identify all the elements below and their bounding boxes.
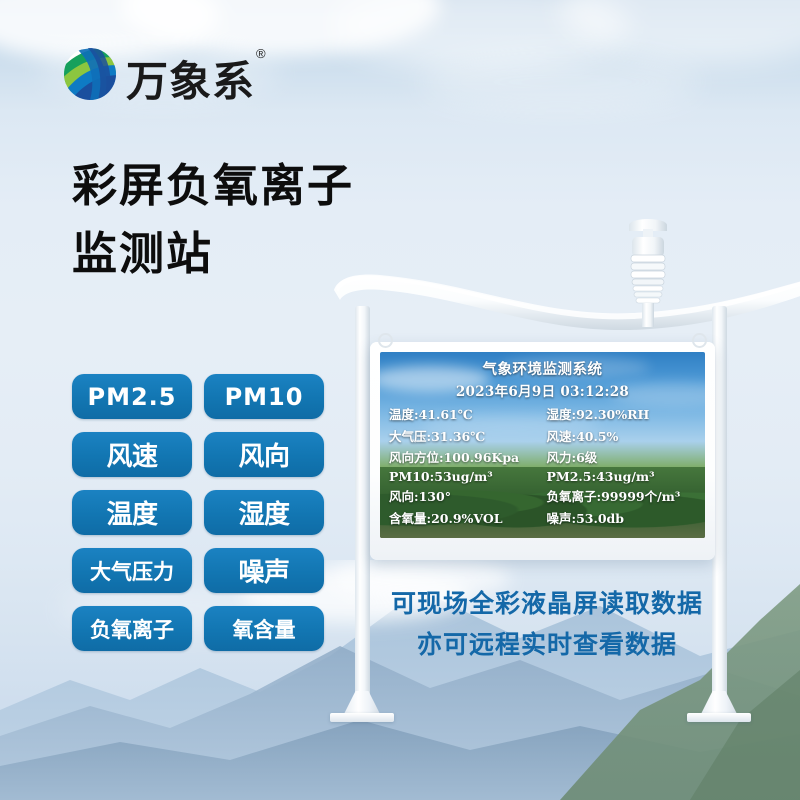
feature-row: 温度 湿度 — [72, 490, 324, 535]
reading-row: 温度:41.61℃ 湿度:92.30%RH — [389, 404, 696, 423]
screen-readout: 气象环境监测系统 2023年6月9日 03:12:28 温度:41.61℃ 湿度… — [380, 352, 705, 538]
caption-line-2: 亦可远程实时查看数据 — [382, 625, 712, 666]
reading-humidity: 湿度:92.30%RH — [539, 404, 697, 423]
canopy-beam — [330, 268, 800, 330]
sensor-readings-grid: 温度:41.61℃ 湿度:92.30%RH 大气压:31.36℃ 风速:40.5… — [389, 404, 696, 527]
reading-temperature: 温度:41.61℃ — [389, 404, 539, 423]
reading-row: 风向:130° 负氧离子:99999个/m³ — [389, 486, 696, 505]
reading-pm10: PM10:53ug/m³ — [389, 469, 539, 484]
brand-name: 万象系 — [126, 48, 255, 109]
feature-tag-pm25[interactable]: PM2.5 — [72, 374, 192, 419]
reading-wind-bearing: 风向方位:100.96Kpa — [389, 447, 539, 466]
reading-wind-force: 风力:6级 — [539, 447, 697, 466]
registered-mark: ® — [256, 46, 266, 61]
globe-swirl-icon — [60, 44, 120, 104]
reading-wind-direction: 风向:130° — [389, 486, 539, 505]
reading-air-pressure: 大气压:31.36℃ — [389, 426, 539, 445]
pole-base-left — [330, 692, 394, 722]
feature-row: 负氧离子 氧含量 — [72, 606, 324, 651]
feature-row: 风速 风向 — [72, 432, 324, 477]
feature-tag-list: PM2.5 PM10 风速 风向 温度 湿度 大气压力 噪声 负氧离子 氧含量 — [72, 374, 324, 664]
reading-oxygen-content: 含氧量:20.9%VOL — [389, 508, 539, 527]
reading-row: 风向方位:100.96Kpa 风力:6级 — [389, 447, 696, 466]
feature-caption: 可现场全彩液晶屏读取数据 亦可远程实时查看数据 — [382, 584, 712, 665]
pole-base-right — [687, 692, 751, 722]
support-pole-left — [355, 306, 370, 706]
screen-title: 气象环境监测系统 — [389, 358, 696, 379]
reading-pm25: PM2.5:43ug/m³ — [539, 469, 697, 484]
feature-tag-temperature[interactable]: 温度 — [72, 490, 192, 535]
reading-noise: 噪声:53.0db — [539, 508, 697, 527]
reading-wind-speed: 风速:40.5% — [539, 426, 697, 445]
feature-tag-wind-speed[interactable]: 风速 — [72, 432, 192, 477]
feature-row: 大气压力 噪声 — [72, 548, 324, 593]
poster-stage: 万象系 ® 彩屏负氧离子 监测站 PM2.5 PM10 风速 风向 温度 湿度 … — [0, 0, 800, 800]
feature-tag-negative-oxygen-ion[interactable]: 负氧离子 — [72, 606, 192, 651]
caption-line-1: 可现场全彩液晶屏读取数据 — [382, 584, 712, 625]
mount-hook-left — [378, 333, 393, 348]
reading-row: PM10:53ug/m³ PM2.5:43ug/m³ — [389, 469, 696, 484]
feature-row: PM2.5 PM10 — [72, 374, 324, 419]
lcd-display-unit[interactable]: 气象环境监测系统 2023年6月9日 03:12:28 温度:41.61℃ 湿度… — [370, 342, 715, 560]
weather-sensor-icon — [618, 215, 678, 330]
reading-negative-oxygen-ion: 负氧离子:99999个/m³ — [539, 486, 697, 505]
feature-tag-air-pressure[interactable]: 大气压力 — [72, 548, 192, 593]
reading-row: 大气压:31.36℃ 风速:40.5% — [389, 426, 696, 445]
brand-logo: 万象系 ® — [60, 42, 290, 108]
mount-hook-right — [692, 333, 707, 348]
reading-row: 含氧量:20.9%VOL 噪声:53.0db — [389, 508, 696, 527]
screen-datetime: 2023年6月9日 03:12:28 — [389, 380, 696, 400]
lcd-screen: 气象环境监测系统 2023年6月9日 03:12:28 温度:41.61℃ 湿度… — [380, 352, 705, 538]
